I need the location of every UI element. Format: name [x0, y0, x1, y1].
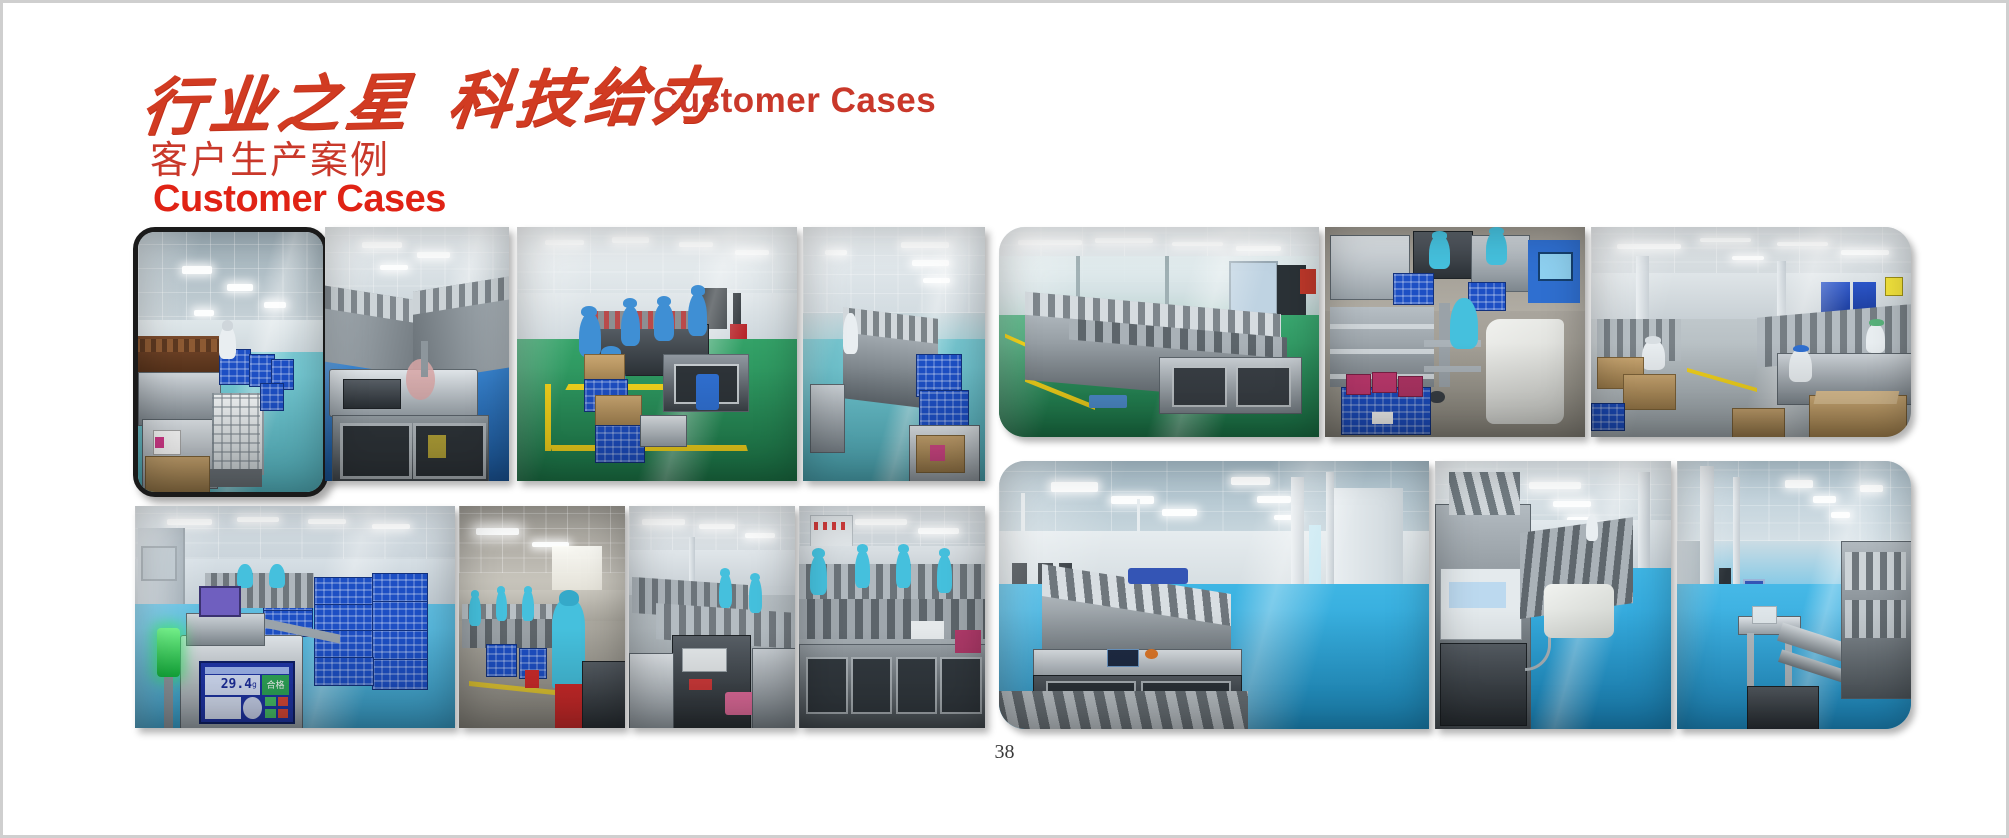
- gallery-photo-bl-3[interactable]: [629, 506, 795, 728]
- gallery-photo-bl-1[interactable]: 29.4g 合格: [135, 506, 455, 728]
- gallery-photo-br-2[interactable]: [1435, 461, 1671, 729]
- slide-canvas: 行业之星科技给力 Customer Cases 客户生产案例 Customer …: [0, 0, 2009, 838]
- gallery-photo-tl-4[interactable]: [803, 227, 985, 481]
- gallery-photo-tr-1[interactable]: [999, 227, 1319, 437]
- gallery-photo-br-1[interactable]: [999, 461, 1429, 729]
- gallery-photo-bl-2[interactable]: [459, 506, 625, 728]
- photo-gallery: 29.4g 合格: [3, 3, 2006, 835]
- gallery-photo-tl-3[interactable]: [517, 227, 797, 481]
- gallery-photo-tr-2[interactable]: [1325, 227, 1585, 437]
- page-number: 38: [3, 741, 2006, 764]
- gallery-photo-tr-3[interactable]: [1591, 227, 1911, 437]
- gallery-photo-tl-1[interactable]: [133, 227, 328, 497]
- gallery-photo-bl-4[interactable]: [799, 506, 985, 728]
- gallery-photo-tl-2[interactable]: [325, 227, 509, 481]
- gallery-photo-br-3[interactable]: [1677, 461, 1911, 729]
